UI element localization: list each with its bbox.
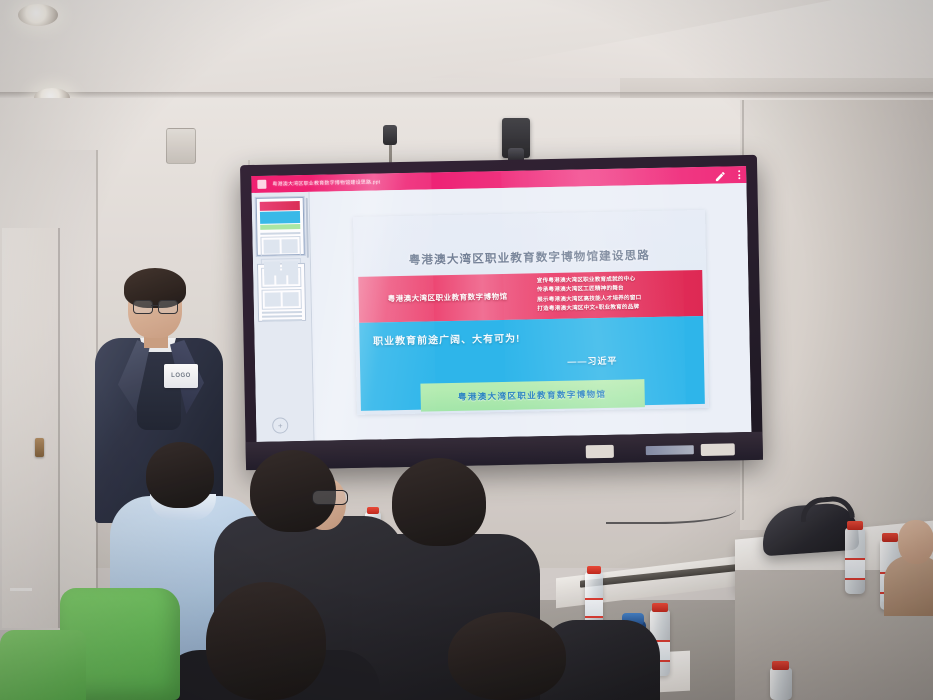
interactive-flat-panel-display[interactable]: 粤港澳大湾区职业教育数字博物馆建设思路.ppt xyxy=(240,155,763,470)
slide-red-band: 粤港澳大湾区职业教育数字博物馆 宣传粤港澳大湾区职业教育成就的中心 传承粤港澳大… xyxy=(358,269,703,322)
eyeglasses-icon xyxy=(312,490,348,505)
slide-thumbnail-2[interactable] xyxy=(257,263,306,322)
eyeglasses-icon xyxy=(133,300,178,312)
water-bottle xyxy=(770,668,792,700)
attendee-hand xyxy=(898,520,933,564)
display-screen[interactable]: 粤港澳大湾区职业教育数字博物馆建设思路.ppt xyxy=(251,166,751,442)
bottle-label xyxy=(845,558,865,580)
bottle-label xyxy=(585,598,603,618)
slide-thumbnail-1[interactable] xyxy=(256,197,305,256)
slide-canvas[interactable]: 粤港澳大湾区职业教育数字博物馆建设思路 粤港澳大湾区职业教育数字博物馆 宣传粤港… xyxy=(310,183,752,441)
thumb-line xyxy=(260,232,300,235)
right-wall xyxy=(740,100,933,530)
green-box-label: 粤港澳大湾区职业教育数字博物馆 xyxy=(458,387,607,402)
slide-quote: 职业教育前途广阔、大有可为! xyxy=(373,329,521,347)
attendee-head xyxy=(206,582,326,700)
red-band-bullets: 宣传粤港澳大湾区职业教育成就的中心 传承粤港澳大湾区工匠精神的舞台 展示粤港澳大… xyxy=(537,274,703,313)
badge-label: LOGO xyxy=(171,373,191,379)
slide-thumbnail-panel[interactable]: + xyxy=(252,192,315,442)
bottle-cap xyxy=(882,533,898,542)
ceiling-sensor-icon xyxy=(383,125,397,145)
attendee-head xyxy=(392,458,486,546)
thumb-green-band xyxy=(260,224,300,230)
thumb-line xyxy=(262,311,302,314)
attendee-head xyxy=(146,442,214,508)
slide-quote-attribution: ——习近平 xyxy=(567,353,617,367)
app-body: + 粤港澳大湾区职业教育数字博物馆建设思路 粤港澳大湾区职业教育数字博物馆 宣传… xyxy=(252,183,752,442)
bottle-cap xyxy=(772,661,789,670)
slide-cyan-band: 职业教育前途广阔、大有可为! ——习近平 粤港澳大湾区职业教育数字博物馆 xyxy=(359,315,705,410)
thumb-box xyxy=(261,267,301,288)
bezel-brand-logo xyxy=(646,445,694,455)
thumb-red-band xyxy=(260,201,300,211)
door-lock-icon[interactable] xyxy=(35,438,44,457)
thumb-box xyxy=(260,236,300,257)
bottle-cap xyxy=(847,521,863,530)
bottle-cap xyxy=(652,603,668,612)
presenter-name-badge: LOGO xyxy=(164,364,198,388)
slide-title: 粤港澳大湾区职业教育数字博物馆建设思路 xyxy=(353,245,705,268)
thumb-cyan-band xyxy=(260,211,300,224)
add-slide-button[interactable]: + xyxy=(272,417,288,433)
file-name-label: 粤港澳大湾区职业教育数字博物馆建设思路.ppt xyxy=(272,178,380,187)
attendee-head xyxy=(448,612,566,700)
ceiling-spotlight-icon xyxy=(18,4,58,26)
bottle-cap xyxy=(367,507,379,514)
app-icon xyxy=(257,180,266,189)
presentation-app[interactable]: 粤港澳大湾区职业教育数字博物馆建设思路.ppt xyxy=(251,166,751,442)
bezel-sticker xyxy=(701,443,735,456)
slide-1[interactable]: 粤港澳大湾区职业教育数字博物馆建设思路 粤港澳大湾区职业教育数字博物馆 宣传粤港… xyxy=(353,209,709,414)
thumb-line xyxy=(262,315,302,318)
door-scuff xyxy=(10,588,32,591)
bottle-cap xyxy=(587,566,601,574)
more-vertical-icon[interactable] xyxy=(738,170,740,179)
green-chair xyxy=(0,630,86,700)
thumb-box xyxy=(261,289,301,310)
thumbnail-scrollbar[interactable] xyxy=(306,198,309,258)
conference-room-scene: 粤港澳大湾区职业教育数字博物馆建设思路.ppt xyxy=(0,0,933,700)
bezel-sticker xyxy=(586,445,614,459)
wall-speaker-icon xyxy=(166,128,196,164)
attendee-arm xyxy=(884,556,933,616)
red-band-heading: 粤港澳大湾区职业教育数字博物馆 xyxy=(358,290,537,305)
door[interactable] xyxy=(2,228,60,628)
slide-green-box: 粤港澳大湾区职业教育数字博物馆 xyxy=(420,379,645,411)
thumb-line xyxy=(262,319,302,322)
pencil-icon[interactable] xyxy=(714,169,726,181)
